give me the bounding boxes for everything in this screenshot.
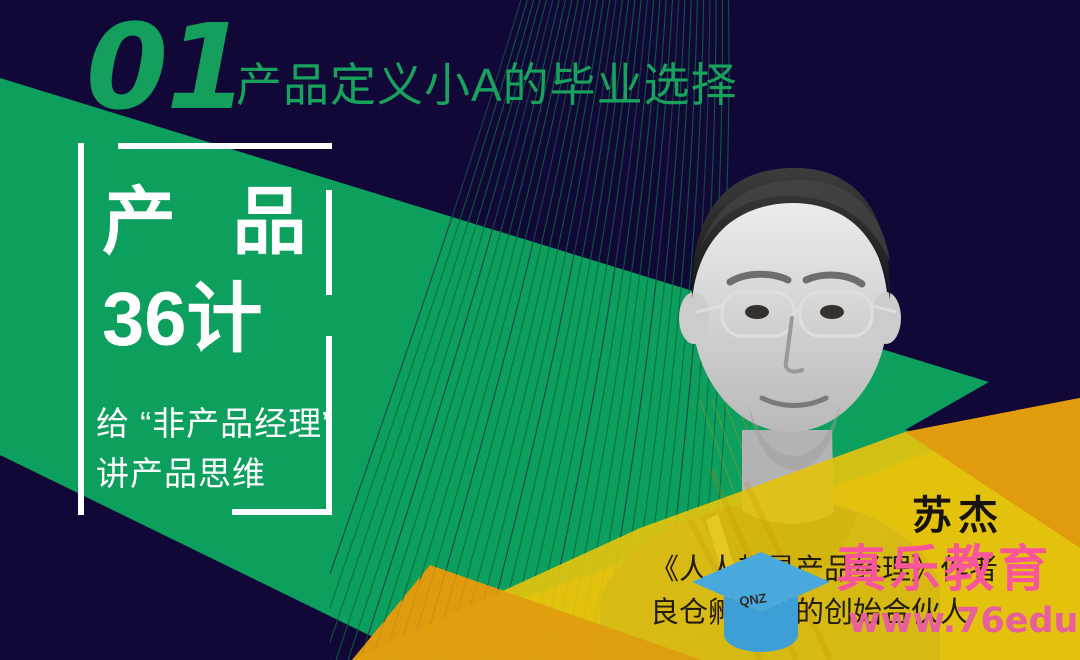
slide-canvas: 01 产品定义小A的毕业选择 产 品 36计 给 “非产品经理” 讲产品思维 苏… [0,0,1080,660]
watermark-url: www.76edu.com [848,602,1080,640]
frame-left-edge [78,143,84,515]
course-title-line1: 产 品 [102,183,325,261]
course-title-line2: 36计 [102,280,263,360]
graduation-cap-icon: QNZ [688,548,834,656]
course-subtitle-line1: 给 “非产品经理” [96,402,334,446]
section-title: 产品定义小A的毕业选择 [236,60,738,110]
course-subtitle-line2: 讲产品思维 [96,452,266,496]
frame-right-upper-edge [326,190,332,295]
frame-top-edge [118,143,332,149]
section-number: 01 [86,8,246,126]
frame-bottom-edge [232,509,332,515]
speaker-name: 苏杰 [912,494,1004,538]
watermark-brand: 真乐教育 [836,542,1052,596]
